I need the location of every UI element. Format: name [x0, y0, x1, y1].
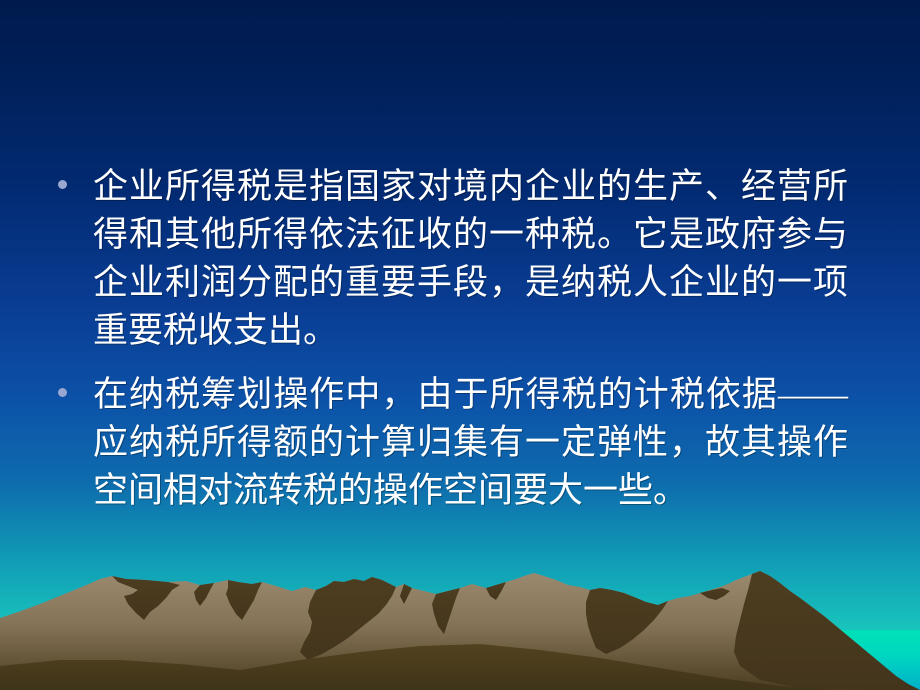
bullet-item-1: 企业所得税是指国家对境内企业的生产、经营所得和其他所得依法征收的一种税。它是政府…	[58, 163, 848, 355]
bullet-item-1-text: 企业所得税是指国家对境内企业的生产、经营所得和其他所得依法征收的一种税。它是政府…	[93, 163, 848, 355]
bullet-item-2: 在纳税筹划操作中，由于所得税的计税依据——应纳税所得额的计算归集有一定弹性，故其…	[58, 371, 848, 515]
bullet-item-2-text: 在纳税筹划操作中，由于所得税的计税依据——应纳税所得额的计算归集有一定弹性，故其…	[93, 371, 848, 515]
bullet-dot-icon	[58, 180, 67, 189]
presentation-slide: 企业所得税是指国家对境内企业的生产、经营所得和其他所得依法征收的一种税。它是政府…	[0, 0, 920, 690]
bullet-dot-icon	[58, 388, 67, 397]
mountain-shadow-far-right	[734, 571, 920, 690]
mountain-range-silhouette	[0, 560, 920, 690]
